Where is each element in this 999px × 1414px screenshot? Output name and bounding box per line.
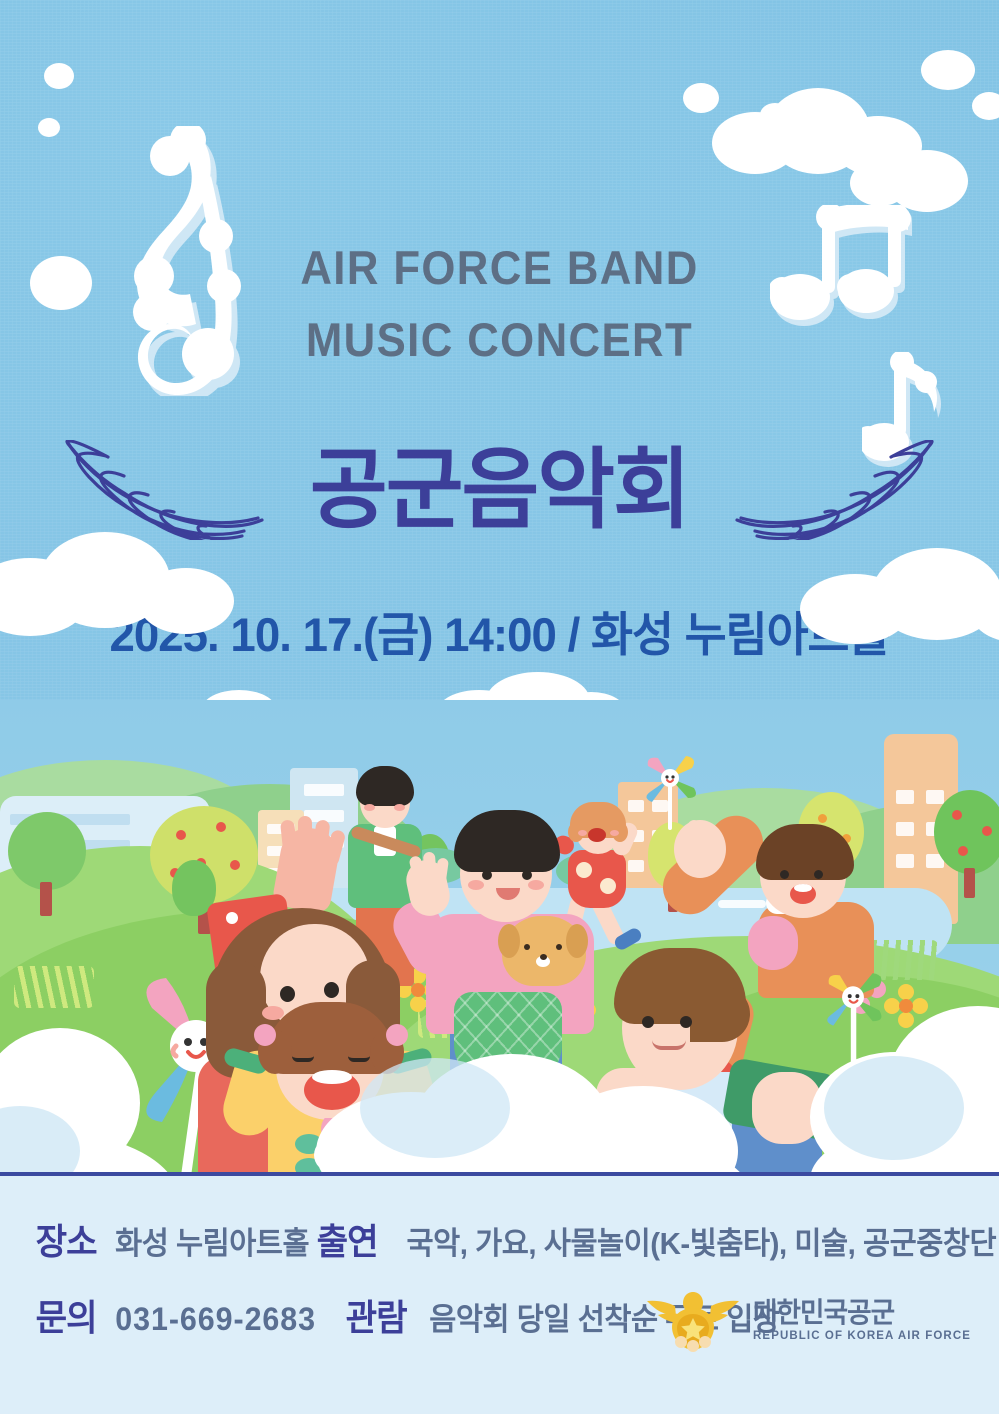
grass-tuft <box>14 966 94 1008</box>
headline-line2: MUSIC CONCERT <box>35 312 964 368</box>
illustration-scene <box>0 700 999 1174</box>
page-title: 공군음악회 <box>310 434 689 546</box>
tree <box>8 812 86 890</box>
cloud-dot <box>44 63 74 89</box>
footer-value-contact-phone[interactable]: 031-669-2683 <box>116 1297 317 1341</box>
cloud-dot <box>921 50 975 90</box>
footer-label-performers: 출연 <box>316 1220 377 1264</box>
footer-row-1: 장소 화성 누림아트홀 출연 국악, 가요, 사물놀이(K-빛춤타), 미술, … <box>0 1220 999 1266</box>
footer-label-admission: 관람 <box>345 1296 406 1340</box>
cloud-dot <box>38 118 60 137</box>
rokaf-emblem-icon <box>645 1290 741 1352</box>
rokaf-logo-text: 대한민국공군 REPUBLIC OF KOREA AIR FORCE <box>753 1299 971 1343</box>
footer-value-performers: 국악, 가요, 사물놀이(K-빛춤타), 미술, 공군중창단 <box>406 1222 996 1266</box>
berry <box>952 810 962 820</box>
footer-value-venue: 화성 누림아트홀 <box>115 1222 309 1266</box>
wing-icon <box>732 440 937 540</box>
rokaf-logo-english: REPUBLIC OF KOREA AIR FORCE <box>753 1331 971 1343</box>
footer-label-venue: 장소 <box>36 1220 97 1264</box>
poster: AIR FORCE BAND MUSIC CONCERT 공군음악회 2025.… <box>0 0 999 1414</box>
window <box>896 790 914 804</box>
window <box>926 790 944 804</box>
headline-line1: AIR FORCE BAND <box>35 240 964 296</box>
rokaf-logo-korean: 대한민국공군 <box>753 1299 960 1327</box>
tree-trunk <box>40 882 52 916</box>
rokaf-logo: 대한민국공군 REPUBLIC OF KOREA AIR FORCE <box>645 1290 971 1352</box>
footer: 장소 화성 누림아트홀 출연 국악, 가요, 사물놀이(K-빛춤타), 미술, … <box>0 1176 999 1414</box>
cloud-dot <box>972 92 999 120</box>
footer-label-contact: 문의 <box>36 1296 97 1340</box>
berry <box>982 826 992 836</box>
cloud-dot <box>683 83 719 113</box>
